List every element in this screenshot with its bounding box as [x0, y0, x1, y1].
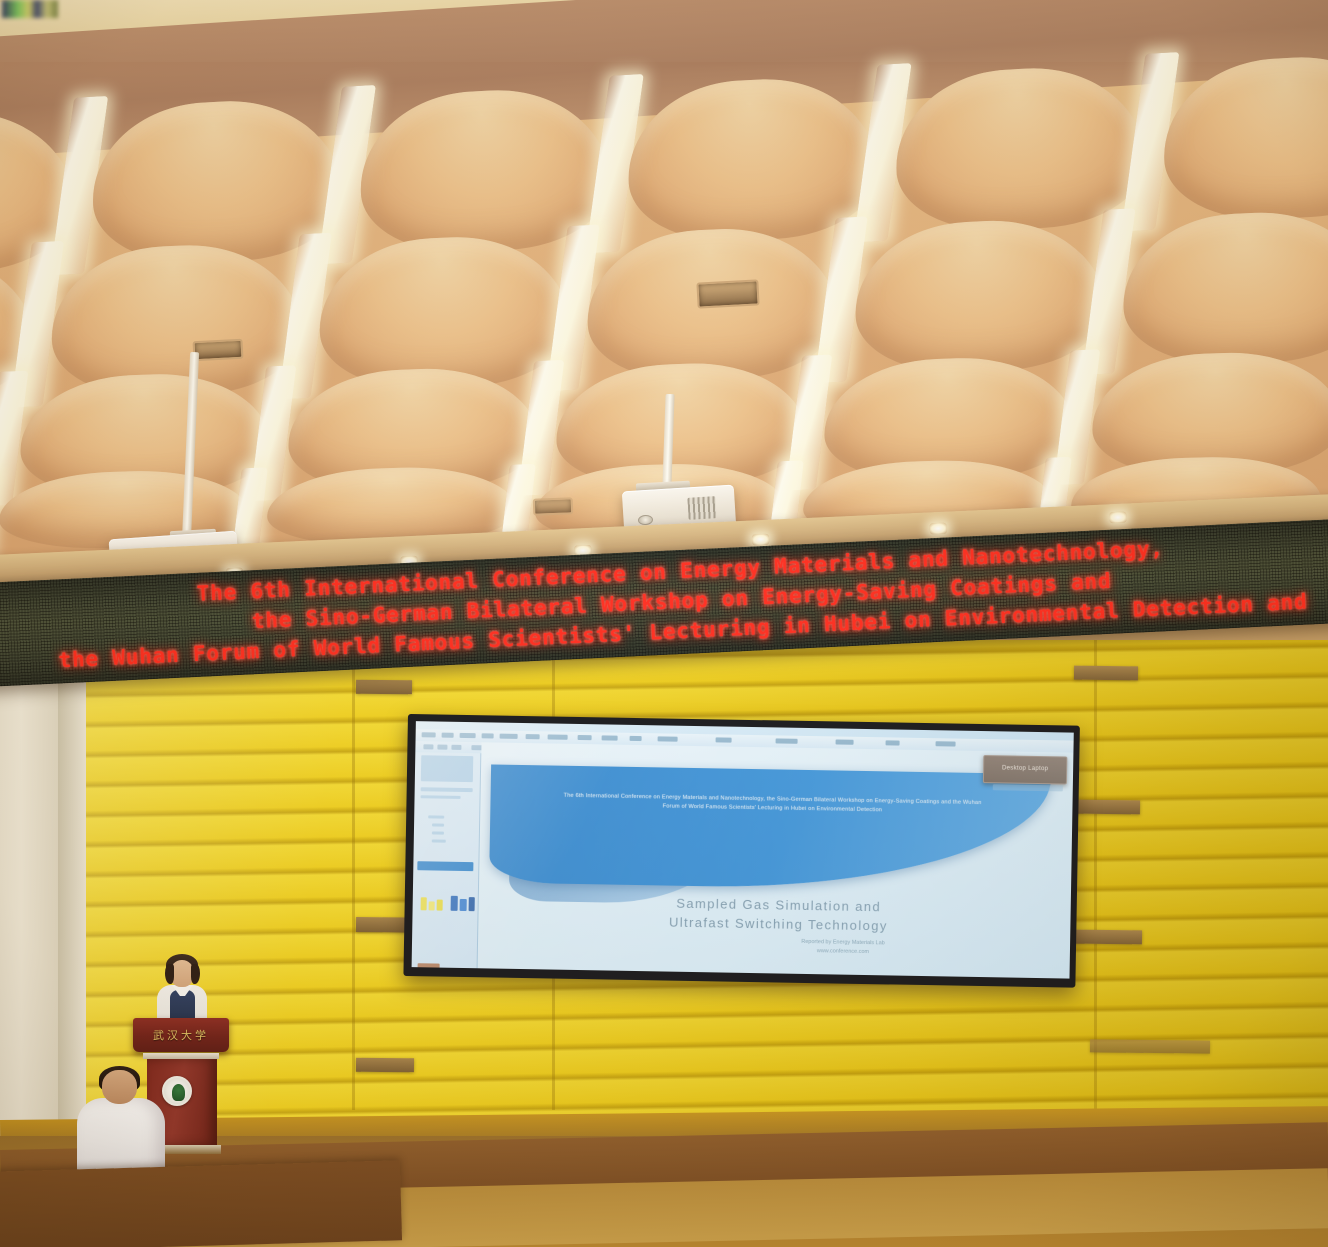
- presenter-hair-left: [165, 964, 174, 984]
- attendee-shirt: [77, 1098, 165, 1178]
- slide-title: Sampled Gas Simulation and Ultrafast Swi…: [568, 892, 989, 937]
- presenter-hair-right: [191, 964, 200, 984]
- ceiling-air-vent: [696, 279, 759, 308]
- taskbar-item[interactable]: [417, 963, 439, 973]
- chart-bar: [451, 896, 458, 911]
- chart-bar: [469, 897, 475, 911]
- wall-accent-strip-6: [1074, 930, 1142, 945]
- desktop-popup-notification[interactable]: Desktop Laptop: [983, 755, 1067, 784]
- ppt-slide-pane[interactable]: [412, 731, 482, 978]
- wall-seam-left: [352, 640, 355, 1110]
- lectern-inscription: 武汉大学: [133, 1027, 229, 1043]
- popup-shadow-bar: [993, 784, 1063, 791]
- slide-outline-item: [428, 815, 444, 818]
- slide-thumbnail-selected[interactable]: [417, 861, 473, 871]
- ceiling-air-vent-secondary: [193, 339, 244, 362]
- projected-image: The 6th International Conference on Ener…: [412, 721, 1074, 978]
- slide-thumbnail-line: [421, 795, 461, 799]
- chart-bar: [460, 899, 467, 911]
- slide-author-block: Reported by Energy Materials Lab www.con…: [678, 936, 1008, 960]
- chart-bar: [429, 901, 435, 910]
- attendee-head: [102, 1070, 137, 1104]
- projection-screen[interactable]: The 6th International Conference on Ener…: [403, 714, 1079, 988]
- image-corner-artifact: [2, 0, 58, 18]
- downlight-3: [752, 534, 769, 546]
- popup-label: Desktop Laptop: [984, 765, 1066, 772]
- wall-accent-strip-7: [1090, 1039, 1210, 1053]
- slide-outline-item: [432, 831, 444, 834]
- slide-decor-shape-1: [489, 764, 1051, 892]
- wall-accent-strip-3: [356, 1058, 414, 1073]
- wall-accent-strip-4: [1074, 666, 1138, 681]
- downlight-4: [930, 523, 947, 535]
- slide-outline-item: [432, 839, 446, 842]
- presenter: [146, 952, 218, 1024]
- chart-bar: [437, 900, 443, 911]
- wall-accent-strip-5: [1074, 800, 1140, 815]
- chart-bar: [421, 897, 427, 910]
- wall-accent-strip-1: [356, 680, 412, 695]
- slide-thumbnail-line: [421, 787, 473, 792]
- foreground-desk: [0, 1160, 402, 1247]
- slide-outline-item: [432, 823, 444, 826]
- ceiling-air-vent-tertiary: [533, 497, 574, 515]
- slide-thumbnail[interactable]: [421, 755, 473, 782]
- downlight-5: [1109, 512, 1126, 524]
- slide-canvas[interactable]: The 6th International Conference on Ener…: [478, 742, 1074, 978]
- conference-hall-scene: The 6th International Conference on Ener…: [0, 0, 1328, 1247]
